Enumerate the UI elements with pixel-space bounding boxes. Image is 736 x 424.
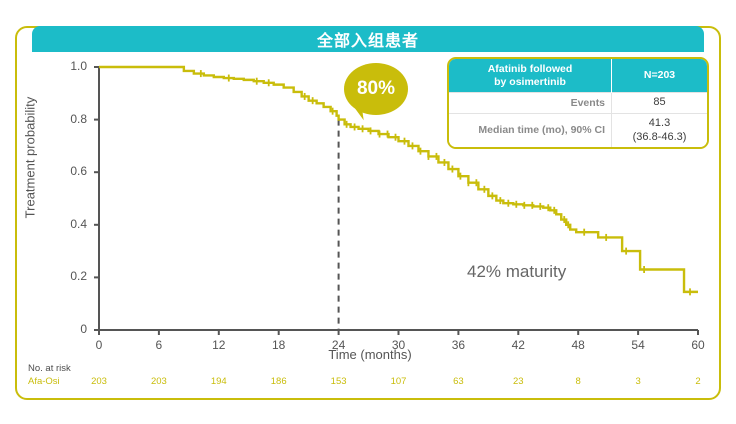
y-tick-label: 0.4: [53, 217, 87, 231]
risk-count: 203: [84, 376, 114, 387]
legend-header-treatment: Afatinib followed by osimertinib: [449, 59, 612, 93]
row-value-median: 41.3 (36.8-46.3): [612, 113, 707, 147]
table-row: Events 85: [449, 93, 707, 114]
risk-count: 23: [503, 376, 533, 387]
x-tick-label: 42: [503, 338, 533, 352]
callout-text: 80%: [357, 78, 395, 100]
maturity-annotation: 42% maturity: [467, 262, 566, 282]
y-tick-label: 1.0: [53, 59, 87, 73]
y-axis-title: Treatment probability: [23, 68, 38, 248]
y-tick-label: 0: [53, 322, 87, 336]
risk-count: 203: [144, 376, 174, 387]
row-value-events: 85: [612, 93, 707, 114]
risk-count: 8: [563, 376, 593, 387]
x-tick-label: 6: [144, 338, 174, 352]
risk-count: 186: [264, 376, 294, 387]
median-ci: (36.8-46.3): [633, 131, 687, 143]
x-tick-label: 30: [384, 338, 414, 352]
y-tick-label: 0.8: [53, 112, 87, 126]
x-axis-title: Time (months): [280, 347, 460, 362]
row-label-median: Median time (mo), 90% CI: [449, 113, 612, 147]
risk-count: 194: [204, 376, 234, 387]
callout-badge: 80%: [344, 63, 408, 115]
statistics-table: Afatinib followed by osimertinib N=203 E…: [447, 57, 709, 149]
page-title: 全部入组患者: [32, 26, 704, 52]
risk-table-title: No. at risk: [28, 363, 71, 374]
legend-header-line1: Afatinib followed: [488, 63, 573, 75]
x-tick-label: 0: [84, 338, 114, 352]
x-tick-label: 60: [683, 338, 713, 352]
legend-header-line2: by osimertinib: [494, 76, 566, 88]
x-tick-label: 24: [324, 338, 354, 352]
x-tick-label: 36: [443, 338, 473, 352]
risk-count: 107: [384, 376, 414, 387]
table-row: Median time (mo), 90% CI 41.3 (36.8-46.3…: [449, 113, 707, 147]
legend-header-n: N=203: [612, 59, 707, 93]
median-value: 41.3: [649, 117, 670, 129]
x-tick-label: 54: [623, 338, 653, 352]
page-title-text: 全部入组患者: [317, 27, 419, 51]
risk-table-row-label: Afa-Osi: [28, 376, 60, 387]
risk-count: 153: [324, 376, 354, 387]
x-tick-label: 18: [264, 338, 294, 352]
row-label-events: Events: [449, 93, 612, 114]
y-tick-label: 0.6: [53, 164, 87, 178]
x-tick-label: 12: [204, 338, 234, 352]
risk-count: 3: [623, 376, 653, 387]
risk-count: 2: [683, 376, 713, 387]
risk-count: 63: [443, 376, 473, 387]
y-tick-label: 0.2: [53, 269, 87, 283]
x-tick-label: 48: [563, 338, 593, 352]
